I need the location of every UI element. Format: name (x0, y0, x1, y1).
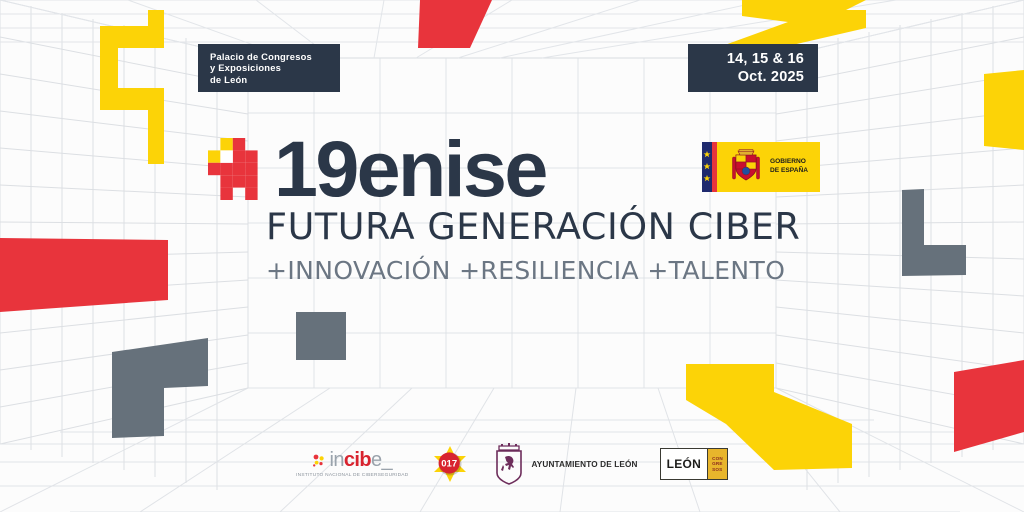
enise-event-banner: Palacio de Congresos y Exposiciones de L… (0, 0, 1024, 512)
leon-congresos-city: LEÓN (667, 457, 702, 471)
incibe-logo[interactable]: incibe_ INSTITUTO NACIONAL DE CIBERSEGUR… (296, 450, 408, 478)
date-days: 14, 15 & 16 (727, 50, 804, 68)
hotline-number: 017 (442, 459, 458, 470)
venue-box: Palacio de Congresos y Exposiciones de L… (198, 44, 340, 92)
leon-congresos-city-box: LEÓN (661, 449, 708, 479)
venue-line-2: y Exposiciones (210, 62, 281, 74)
venue-line-3: de León (210, 74, 247, 86)
incibe-subtitle: INSTITUTO NACIONAL DE CIBERSEGURIDAD (296, 473, 408, 478)
incibe-dots-icon (312, 453, 327, 468)
date-month-year: Oct. 2025 (738, 68, 804, 86)
gobierno-line-1: GOBIERNO (770, 158, 806, 165)
venue-line-1: Palacio de Congresos (210, 51, 312, 63)
date-box: 14, 15 & 16 Oct. 2025 (688, 44, 818, 92)
shape-red-left-slab (0, 238, 168, 312)
leon-congresos-word-box: CON GRE SOS (707, 449, 727, 479)
gobierno-line-2: DE ESPAÑA (770, 165, 808, 174)
ayuntamiento-de-leon-logo[interactable]: AYUNTAMIENTO DE LEÓN (492, 443, 637, 485)
leon-congresos-logo[interactable]: LEÓN CON GRE SOS (660, 448, 728, 480)
hotline-017-logo[interactable]: 017 (430, 444, 470, 484)
gobierno-de-espana-logo: GOBIERNO DE ESPAÑA (702, 142, 820, 192)
hotline-badge-icon: 017 (430, 444, 470, 484)
shape-yellow-right-wall (984, 70, 1024, 150)
headline: FUTURA GENERACIÓN CIBER (266, 207, 801, 247)
logo-text: 19enise (274, 129, 546, 208)
pixel-hashtag-icon (208, 138, 270, 200)
ayuntamiento-label: AYUNTAMIENTO DE LEÓN (531, 460, 637, 469)
tagline: +INNOVACIÓN +RESILIENCIA +TALENTO (266, 256, 785, 286)
event-logo: 19enise (208, 129, 546, 208)
shape-gray-center (296, 312, 346, 360)
incibe-part-in: in (329, 449, 343, 471)
incibe-part-cib: cib (344, 449, 371, 471)
footer-logo-strip: incibe_ INSTITUTO NACIONAL DE CIBERSEGUR… (0, 436, 1024, 492)
incibe-part-e: e (371, 449, 382, 471)
incibe-underscore: _ (382, 449, 393, 471)
leon-crest-icon (492, 443, 526, 485)
congresos-line-3: SOS (712, 467, 723, 473)
